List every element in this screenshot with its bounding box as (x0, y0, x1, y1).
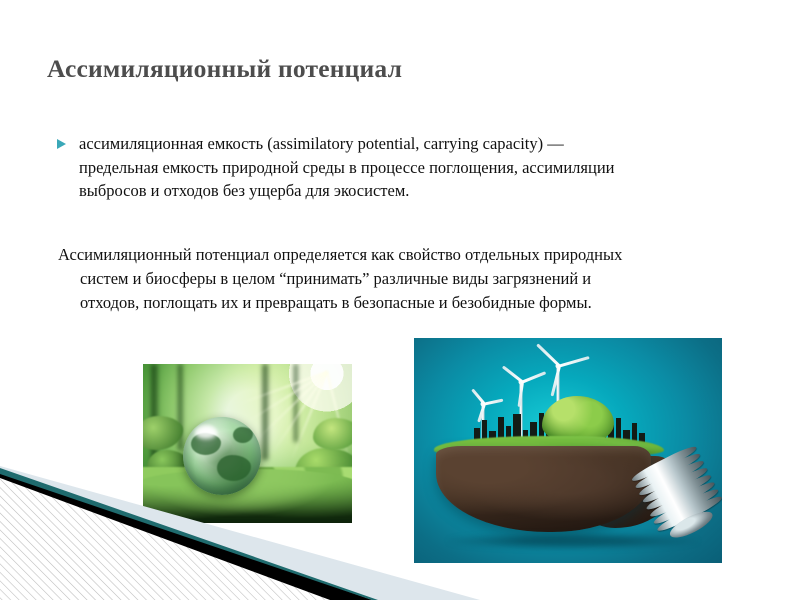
drop-shadow (448, 533, 698, 549)
paragraph-line: отходов, поглощать их и превращать в без… (58, 291, 768, 315)
body-paragraph: Ассимиляционный потенциал определяется к… (58, 243, 768, 315)
glass-globe-green-forest-photo (143, 364, 352, 523)
eco-light-bulb-soil-island-photo (414, 338, 722, 563)
globe-continent (233, 427, 253, 443)
paragraph-line: Ассимиляционный потенциал определяется к… (58, 243, 768, 267)
bullet-line: ассимиляционная емкость (assimilatory po… (79, 132, 757, 156)
bullet-line: выбросов и отходов без ущерба для экосис… (79, 179, 757, 203)
slide: Ассимиляционный потенциал ассимиляционна… (0, 0, 800, 600)
globe-continent (217, 455, 251, 481)
bullet-list-item: ассимиляционная емкость (assimilatory po… (57, 132, 757, 203)
page-title: Ассимиляционный потенциал (47, 55, 747, 83)
triangle-right-bullet-icon (57, 132, 79, 149)
bullet-line: предельная емкость природной среды в про… (79, 156, 757, 180)
bullet-text: ассимиляционная емкость (assimilatory po… (79, 132, 757, 203)
globe-highlight (195, 426, 217, 439)
glass-globe (183, 417, 261, 495)
paragraph-line: систем и биосферы в целом “принимать” ра… (58, 267, 768, 291)
leaf-cluster (313, 418, 352, 450)
